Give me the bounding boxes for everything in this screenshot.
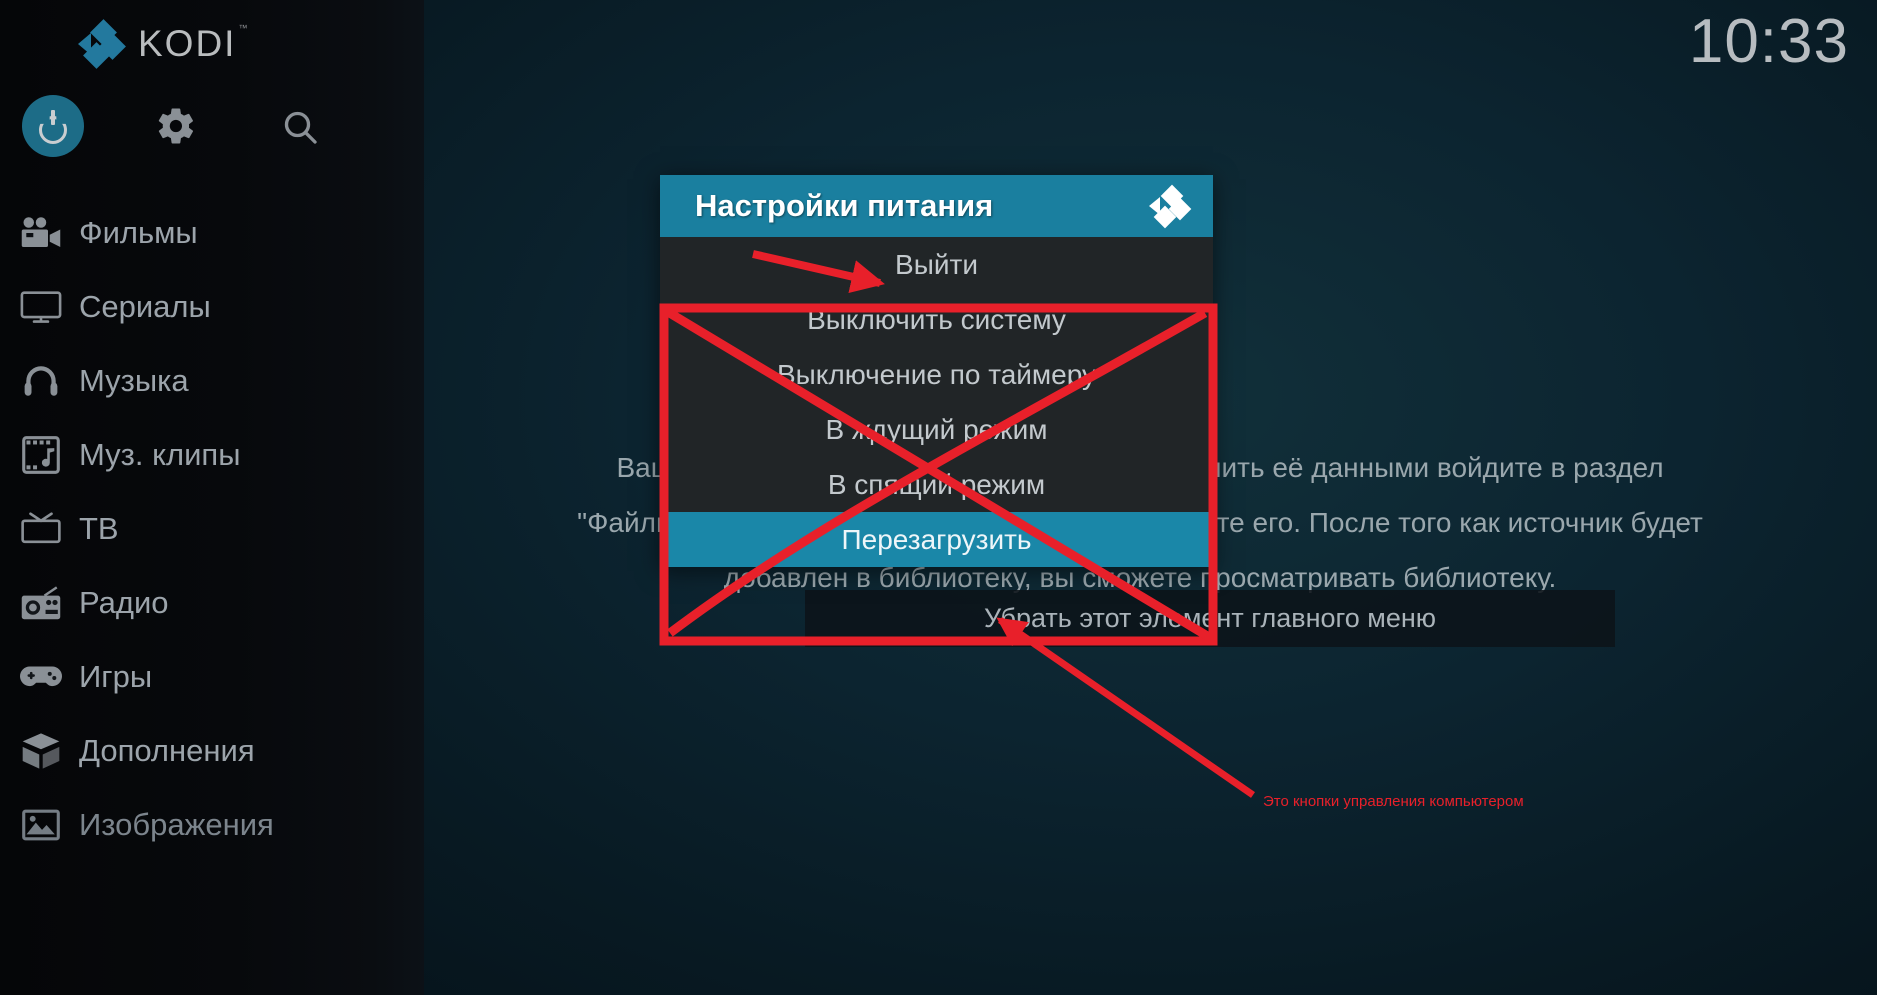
- dialog-title: Настройки питания: [695, 188, 993, 224]
- sidebar-item-radio[interactable]: Радио: [0, 566, 424, 640]
- sidebar-item-musicvideos[interactable]: Муз. клипы: [0, 418, 424, 492]
- kodi-logo-icon: [1149, 188, 1189, 226]
- gear-icon[interactable]: [155, 105, 197, 147]
- sidebar-item-pictures[interactable]: Изображения: [0, 788, 424, 862]
- brand-name: KODI™: [138, 23, 247, 65]
- kodi-logo-icon: [78, 22, 122, 66]
- dialog-item-reboot[interactable]: Перезагрузить: [660, 512, 1213, 567]
- tv-monitor-icon: [18, 287, 64, 327]
- top-icon-row: [0, 95, 424, 161]
- sidebar-item-tv[interactable]: ТВ: [0, 492, 424, 566]
- sidebar-item-addons[interactable]: Дополнения: [0, 714, 424, 788]
- sidebar-item-label: Игры: [79, 659, 152, 695]
- sidebar-item-label: Фильмы: [79, 215, 198, 251]
- sidebar-item-label: Муз. клипы: [79, 437, 241, 473]
- search-icon[interactable]: [280, 107, 320, 147]
- annotation-note-text: Это кнопки управления компьютером: [1263, 793, 1524, 810]
- sidebar-item-label: Дополнения: [79, 733, 255, 769]
- sidebar-item-label: Сериалы: [79, 289, 211, 325]
- dialog-item-hibernate[interactable]: В спящий режим: [660, 457, 1213, 512]
- headphones-icon: [18, 361, 64, 401]
- sidebar-item-label: Радио: [79, 585, 169, 621]
- dialog-item-timer-shutdown[interactable]: Выключение по таймеру: [660, 347, 1213, 402]
- picture-icon: [18, 805, 64, 845]
- sidebar-item-label: Изображения: [79, 807, 274, 843]
- dialog-header: Настройки питания: [660, 175, 1213, 237]
- kodi-home-screen: KODI™: [0, 0, 1877, 995]
- power-settings-dialog: Настройки питания Выйти Выключить систем…: [660, 175, 1213, 567]
- sidebar-item-label: ТВ: [79, 511, 119, 547]
- television-icon: [18, 509, 64, 549]
- radio-icon: [18, 583, 64, 623]
- music-video-icon: [18, 435, 64, 475]
- dialog-item-list: Выйти Выключить систему Выключение по та…: [660, 237, 1213, 567]
- main-menu: Фильмы Сериалы: [0, 196, 424, 862]
- remove-menu-item-button[interactable]: Убрать этот элемент главного меню: [805, 590, 1615, 647]
- sidebar-item-games[interactable]: Игры: [0, 640, 424, 714]
- sidebar-item-movies[interactable]: Фильмы: [0, 196, 424, 270]
- sidebar-item-music[interactable]: Музыка: [0, 344, 424, 418]
- clock: 10:33: [1689, 6, 1849, 77]
- sidebar-item-tvshows[interactable]: Сериалы: [0, 270, 424, 344]
- dialog-item-standby[interactable]: В ждущий режим: [660, 402, 1213, 457]
- kodi-brand-logo: KODI™: [78, 22, 247, 66]
- sidebar: KODI™: [0, 0, 424, 995]
- addon-box-icon: [18, 731, 64, 771]
- sidebar-item-label: Музыка: [79, 363, 189, 399]
- dialog-item-exit[interactable]: Выйти: [660, 237, 1213, 292]
- gamepad-icon: [18, 657, 64, 697]
- dialog-item-shutdown[interactable]: Выключить систему: [660, 292, 1213, 347]
- movie-camera-icon: [18, 213, 64, 253]
- power-icon[interactable]: [22, 95, 84, 157]
